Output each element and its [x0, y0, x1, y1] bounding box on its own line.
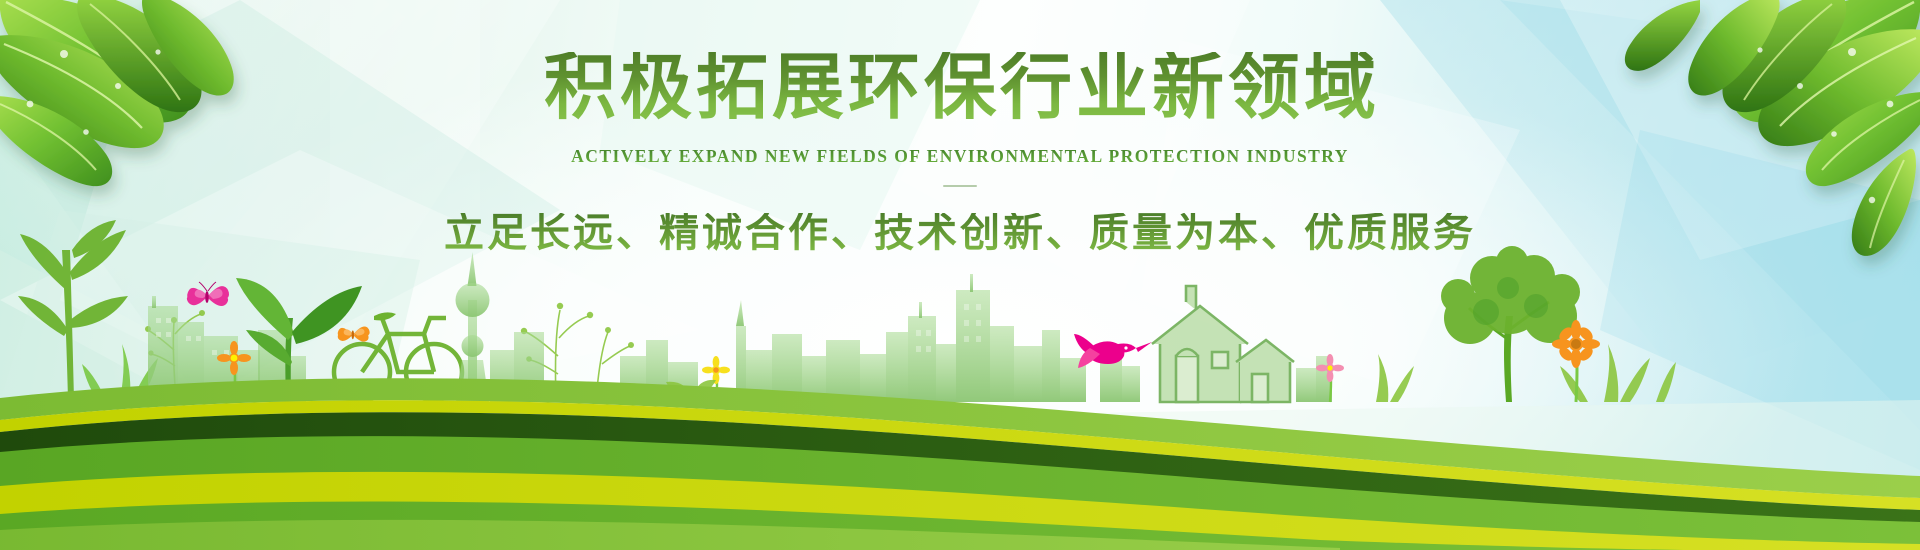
leaf-cluster-left [0, 0, 234, 186]
eco-banner: 积极拓展环保行业新领域 ACTIVELY EXPAND NEW FIELDS O… [0, 0, 1920, 550]
leaf-cluster-right [1625, 0, 1920, 256]
leaf-decoration-layer [0, 0, 1920, 550]
